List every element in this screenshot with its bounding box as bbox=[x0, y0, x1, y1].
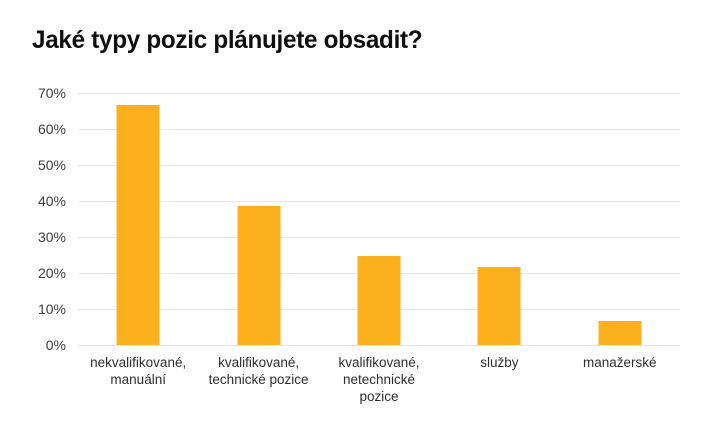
x-axis-label-line: pozice bbox=[319, 388, 439, 405]
bar-slot bbox=[78, 93, 198, 345]
x-axis-label-line: služby bbox=[439, 354, 559, 371]
y-axis-tick-label: 50% bbox=[38, 157, 66, 173]
y-axis-tick-label: 40% bbox=[38, 193, 66, 209]
x-axis-label-line: manuální bbox=[78, 371, 198, 388]
y-axis-tick-label: 60% bbox=[38, 121, 66, 137]
plot-area: 70%60%50%40%30%20%10%0% bbox=[78, 93, 680, 345]
x-axis-category-label: kvalifikované,technické pozice bbox=[198, 354, 318, 388]
x-axis-category-label: kvalifikované,netechnicképozice bbox=[319, 354, 439, 405]
y-axis-tick-label: 20% bbox=[38, 265, 66, 281]
x-axis-label-line: kvalifikované, bbox=[319, 354, 439, 371]
y-axis-tick-label: 10% bbox=[38, 301, 66, 317]
bar[interactable] bbox=[478, 267, 521, 345]
x-axis-category-label: manažerské bbox=[560, 354, 680, 371]
y-axis-tick-label: 0% bbox=[46, 337, 66, 353]
bar-slot bbox=[560, 93, 680, 345]
x-axis-label-line: netechnické bbox=[319, 371, 439, 388]
x-axis-label-line: kvalifikované, bbox=[198, 354, 318, 371]
bar-chart: Jaké typy pozic plánujete obsadit? 70%60… bbox=[0, 0, 720, 422]
bar[interactable] bbox=[237, 206, 280, 345]
chart-title: Jaké typy pozic plánujete obsadit? bbox=[32, 26, 422, 55]
x-axis-label-line: technické pozice bbox=[198, 371, 318, 388]
bar[interactable] bbox=[117, 105, 160, 345]
bar-slot bbox=[439, 93, 559, 345]
x-axis-label-line: manažerské bbox=[560, 354, 680, 371]
bar-slot bbox=[198, 93, 318, 345]
y-axis-tick-label: 70% bbox=[38, 85, 66, 101]
x-axis-category-label: nekvalifikované,manuální bbox=[78, 354, 198, 388]
bar[interactable] bbox=[598, 321, 641, 345]
bar-slot bbox=[319, 93, 439, 345]
y-axis-tick-label: 30% bbox=[38, 229, 66, 245]
bar[interactable] bbox=[357, 256, 400, 345]
x-axis-category-label: služby bbox=[439, 354, 559, 371]
x-axis-label-line: nekvalifikované, bbox=[78, 354, 198, 371]
